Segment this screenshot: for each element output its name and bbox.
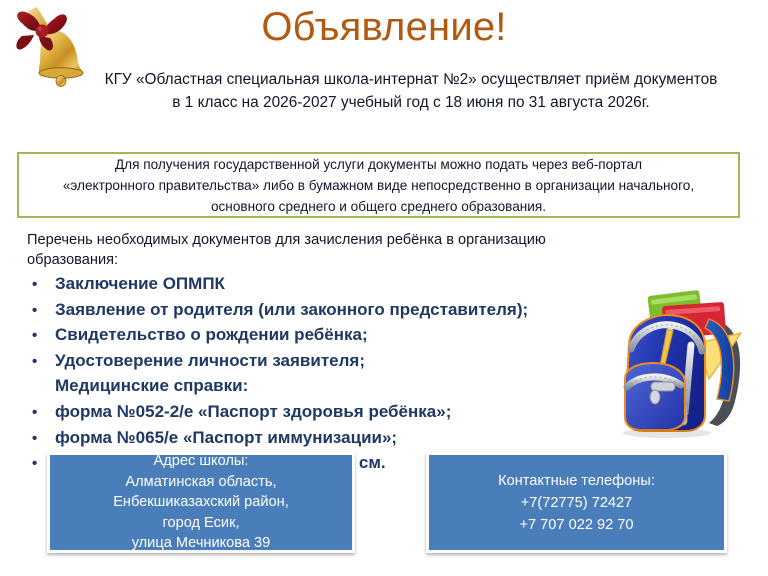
bullet-icon: • [27, 427, 55, 452]
document-item-label: Удостоверение личности заявителя; [55, 349, 607, 374]
notice-box: Для получения государственной услуги док… [17, 152, 740, 218]
bullet-icon: • [27, 324, 55, 349]
bullet-icon: • [27, 299, 55, 324]
address-line: Адрес школы: [113, 451, 289, 472]
intro-line: в 1 класс на 2026-2027 учебный год с 18 … [54, 91, 768, 114]
phones-box: Контактные телефоны: +7(72775) 72427 +7 … [426, 452, 727, 553]
document-subheading: • Медицинские справки: [27, 374, 607, 400]
document-subheading-label: Медицинские справки: [55, 374, 607, 399]
address-line: Енбекшиказахский район, [113, 492, 289, 513]
address-text: Адрес школы: Алматинская область, Енбекш… [113, 451, 289, 554]
document-item: • Удостоверение личности заявителя; [27, 349, 607, 375]
document-item: • Свидетельство о рождении ребёнка; [27, 323, 607, 349]
address-line: улица Мечникова 39 [113, 533, 289, 554]
notice-line: Для получения государственной услуги док… [63, 154, 694, 175]
address-line: Алматинская область, [113, 472, 289, 493]
document-item-label: форма №065/е «Паспорт иммунизации»; [55, 426, 607, 451]
document-item-label: Свидетельство о рождении ребёнка; [55, 323, 607, 348]
page-title: Объявление! [0, 2, 768, 52]
document-item-label: форма №052-2/е «Паспорт здоровья ребёнка… [55, 400, 607, 425]
phones-text: Контактные телефоны: +7(72775) 72427 +7 … [498, 470, 655, 536]
notice-text: Для получения государственной услуги док… [55, 154, 702, 217]
bullet-icon: • [27, 401, 55, 426]
bullet-icon: • [27, 350, 55, 375]
document-item: • форма №052-2/е «Паспорт здоровья ребён… [27, 400, 607, 426]
document-item: • Заключение ОПМПК [27, 272, 607, 298]
intro-line: КГУ «Областная специальная школа-интерна… [54, 68, 768, 91]
document-item-label: Заявление от родителя (или законного пре… [55, 298, 607, 323]
notice-line: основного среднего и общего среднего обр… [63, 196, 694, 217]
bullet-icon: • [27, 273, 55, 298]
phones-line: Контактные телефоны: [498, 470, 655, 492]
phones-line: +7 707 022 92 70 [498, 514, 655, 536]
document-item-label: Заключение ОПМПК [55, 272, 607, 297]
document-item: • форма №065/е «Паспорт иммунизации»; [27, 426, 607, 452]
notice-line: «электронного правительства» либо в бума… [63, 175, 694, 196]
documents-lead: Перечень необходимых документов для зачи… [27, 230, 607, 270]
intro-paragraph: КГУ «Областная специальная школа-интерна… [54, 68, 768, 114]
backpack-icon [605, 283, 765, 448]
documents-section: Перечень необходимых документов для зачи… [27, 230, 607, 477]
address-box: Адрес школы: Алматинская область, Енбекш… [47, 452, 355, 553]
phones-line: +7(72775) 72427 [498, 492, 655, 514]
document-item: • Заявление от родителя (или законного п… [27, 298, 607, 324]
address-line: город Есик, [113, 513, 289, 534]
